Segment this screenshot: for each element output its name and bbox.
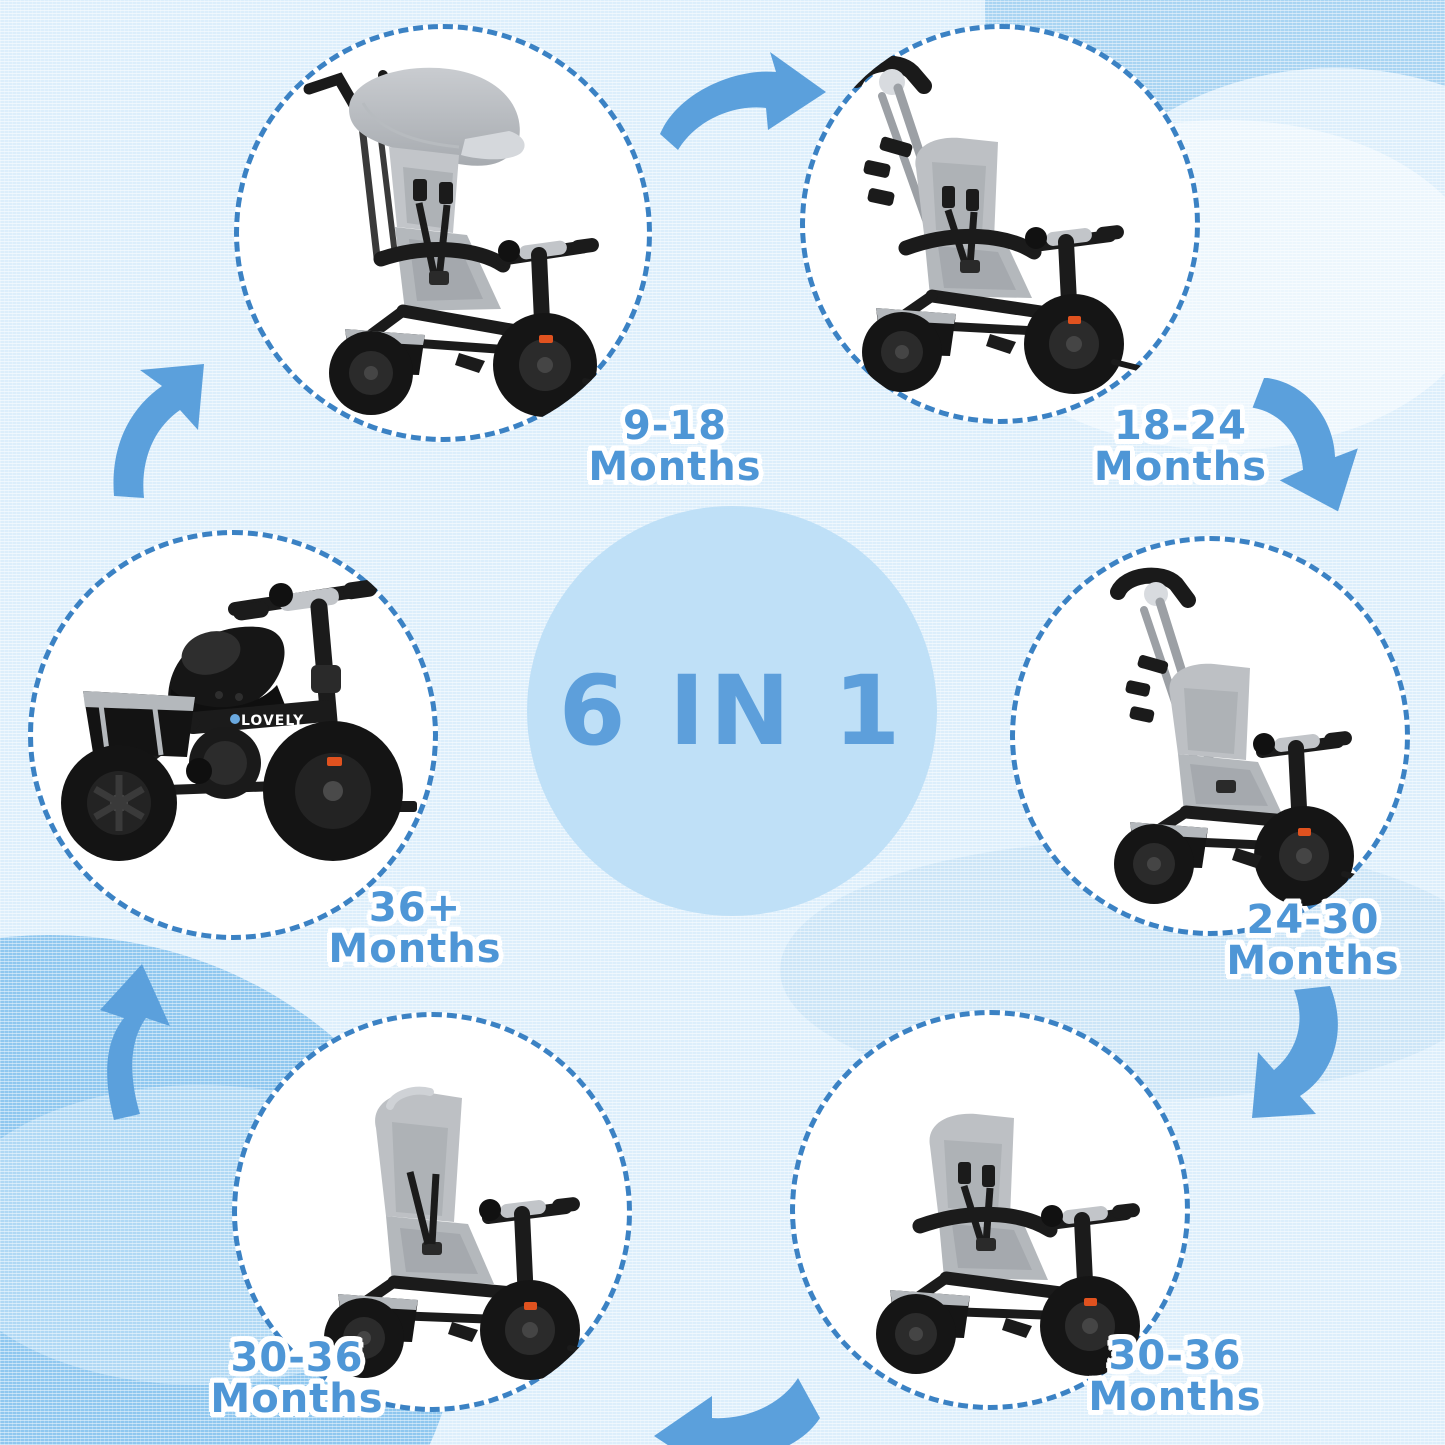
stage-label-9-18-months: 9-18 Months xyxy=(560,406,790,488)
flow-arrow-up-right xyxy=(96,348,266,522)
stage-age-line-2: Months xyxy=(1058,447,1303,488)
stage-label-30-36-months-bottom-left: 30-36 Months xyxy=(172,1338,422,1420)
stage-age-line-2: Months xyxy=(172,1379,422,1420)
stage-age-line-1: 24-30 xyxy=(1247,897,1380,943)
flow-arrow-up xyxy=(68,948,228,1132)
stage-age-line-2: Months xyxy=(1050,1377,1300,1418)
stage-age-line-1: 18-24 xyxy=(1114,403,1247,449)
stage-age-line-2: Months xyxy=(1188,941,1438,982)
product-photo-36-plus-months: LOVELY xyxy=(28,530,438,940)
stage-label-30-36-months-bottom-right: 30-36 Months xyxy=(1050,1336,1300,1418)
flow-arrow-left xyxy=(632,1356,832,1445)
infographic-canvas: 6 IN 1 xyxy=(0,0,1445,1445)
stage-age-line-2: Months xyxy=(560,447,790,488)
stage-age-line-1: 30-36 xyxy=(231,1335,364,1381)
stage-label-36-plus-months: 36+ Months xyxy=(300,888,530,970)
stage-age-line-1: 36+ xyxy=(369,885,461,931)
flow-arrow-right xyxy=(648,46,838,190)
svg-text:LOVELY: LOVELY xyxy=(241,713,304,729)
center-headline: 6 IN 1 xyxy=(527,506,937,916)
product-photo-24-30-months xyxy=(1010,536,1410,936)
stage-age-line-1: 9-18 xyxy=(623,403,727,449)
product-photo-18-24-months xyxy=(800,24,1200,424)
stage-age-line-1: 30-36 xyxy=(1109,1333,1242,1379)
product-photo-9-18-months xyxy=(234,24,652,442)
stage-label-24-30-months: 24-30 Months xyxy=(1188,900,1438,982)
stage-age-line-2: Months xyxy=(300,929,530,970)
flow-arrow-down-left xyxy=(1208,968,1383,1137)
stage-label-18-24-months: 18-24 Months xyxy=(1058,406,1303,488)
